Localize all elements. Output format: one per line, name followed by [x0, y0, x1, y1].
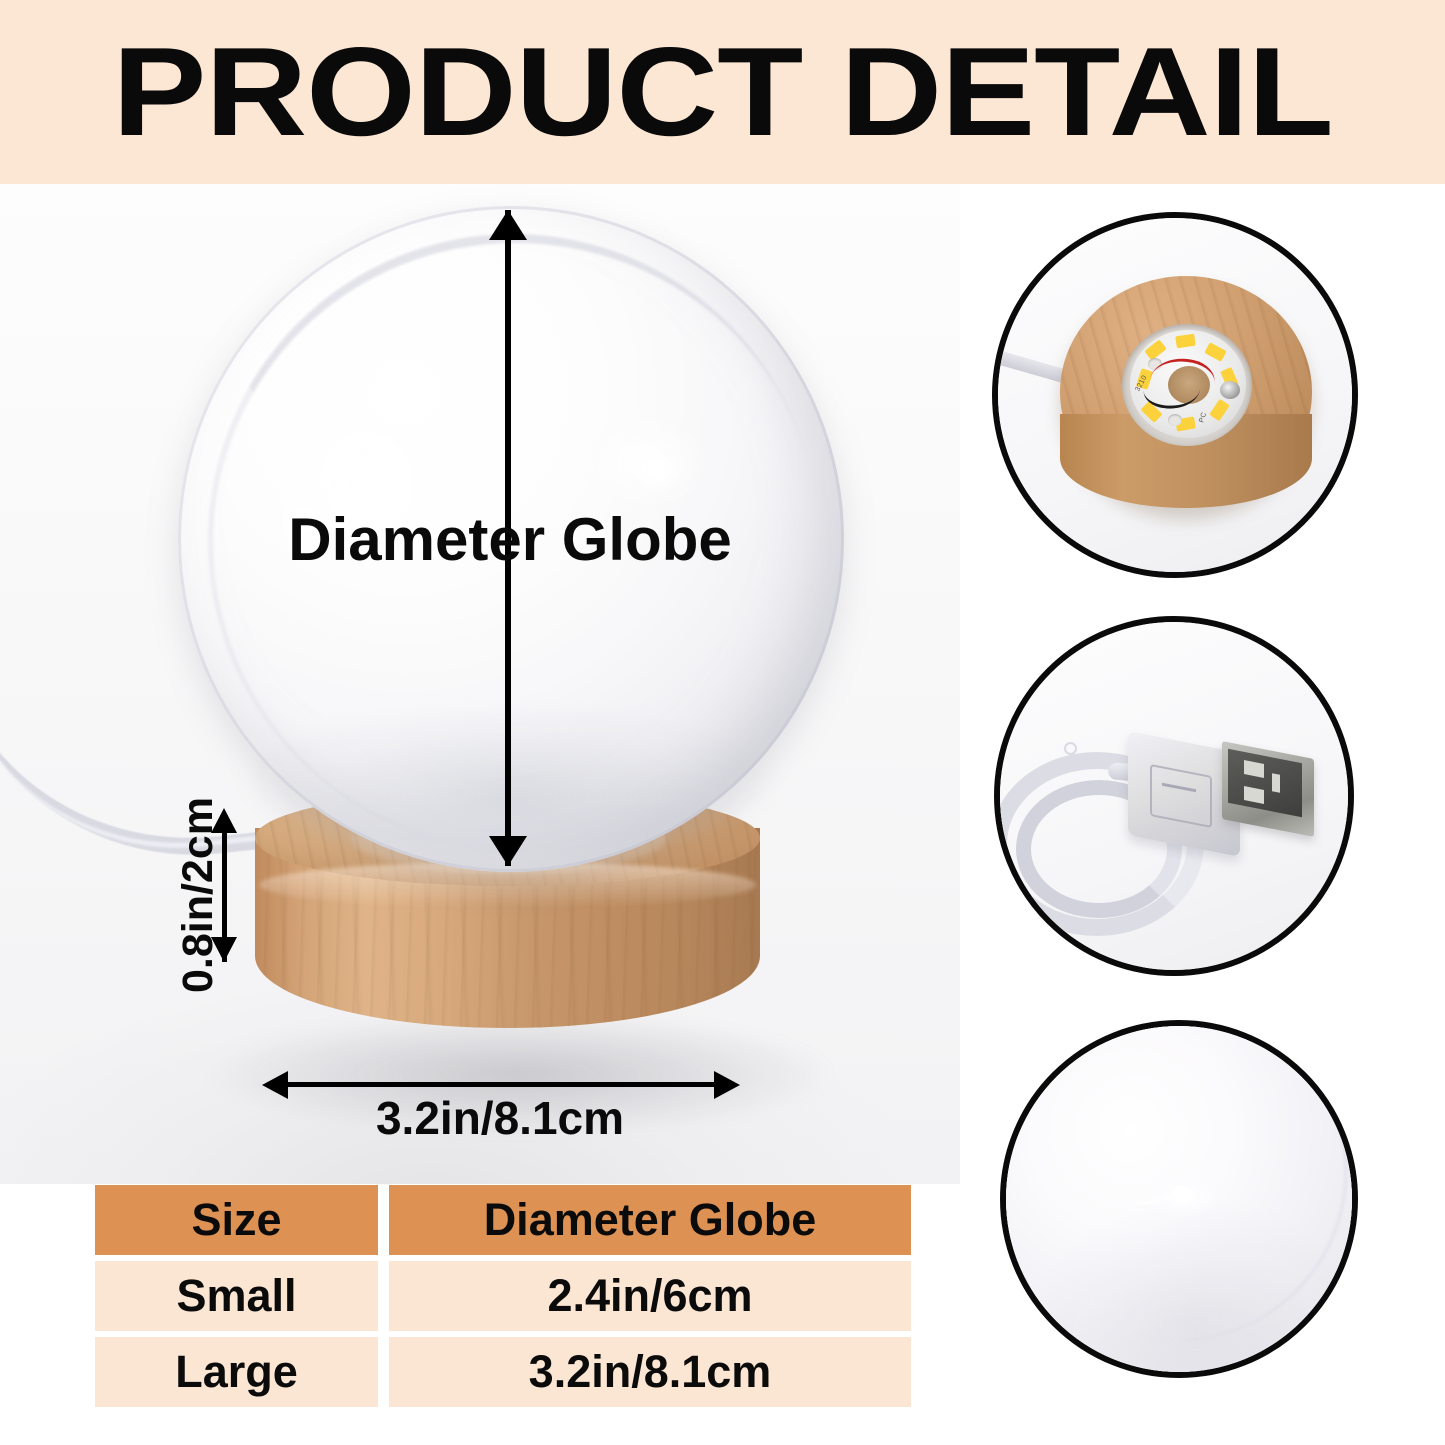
table-cell-size-small: Small — [95, 1261, 378, 1331]
thumbnail-crystal-surface — [1000, 1020, 1358, 1378]
base-width-dimension-line — [286, 1082, 720, 1087]
table-row: Large 3.2in/8.1cm — [95, 1337, 911, 1407]
size-table: Size Diameter Globe Small 2.4in/6cm Larg… — [95, 1185, 911, 1413]
thumbnail-usb-connector — [994, 616, 1354, 976]
table-header-diameter: Diameter Globe — [389, 1185, 911, 1255]
thumbnail-led-base: 3210 PC — [992, 212, 1358, 578]
background-speck — [1064, 742, 1077, 755]
table-cell-diameter-large: 3.2in/8.1cm — [389, 1337, 911, 1407]
table-cell-size-large: Large — [95, 1337, 378, 1407]
globe-highlight-right-small — [630, 448, 682, 494]
arrow-up-icon — [489, 210, 527, 240]
arrow-down-icon — [489, 836, 527, 866]
table-cell-diameter-small: 2.4in/6cm — [389, 1261, 911, 1331]
product-detail-infographic: PRODUCT DETAIL — [0, 0, 1445, 1445]
pcb-screw — [1220, 381, 1240, 399]
header-banner: PRODUCT DETAIL — [0, 0, 1445, 184]
page-title: PRODUCT DETAIL — [0, 18, 1445, 166]
table-row: Small 2.4in/6cm — [95, 1261, 911, 1331]
base-width-label: 3.2in/8.1cm — [200, 1092, 800, 1144]
pcb-mount-hole — [1168, 414, 1182, 426]
table-header-size: Size — [95, 1185, 378, 1255]
main-product-photo: Diameter Globe 0.8in/2cm 3.2in/8.1cm — [0, 184, 960, 1184]
diameter-label: Diameter Globe — [150, 508, 870, 572]
crystal-specular-dot — [1172, 1186, 1192, 1204]
usb-contact-pin — [1272, 773, 1280, 793]
table-header-row: Size Diameter Globe — [95, 1185, 911, 1255]
base-height-label: 0.8in/2cm — [175, 785, 221, 1005]
